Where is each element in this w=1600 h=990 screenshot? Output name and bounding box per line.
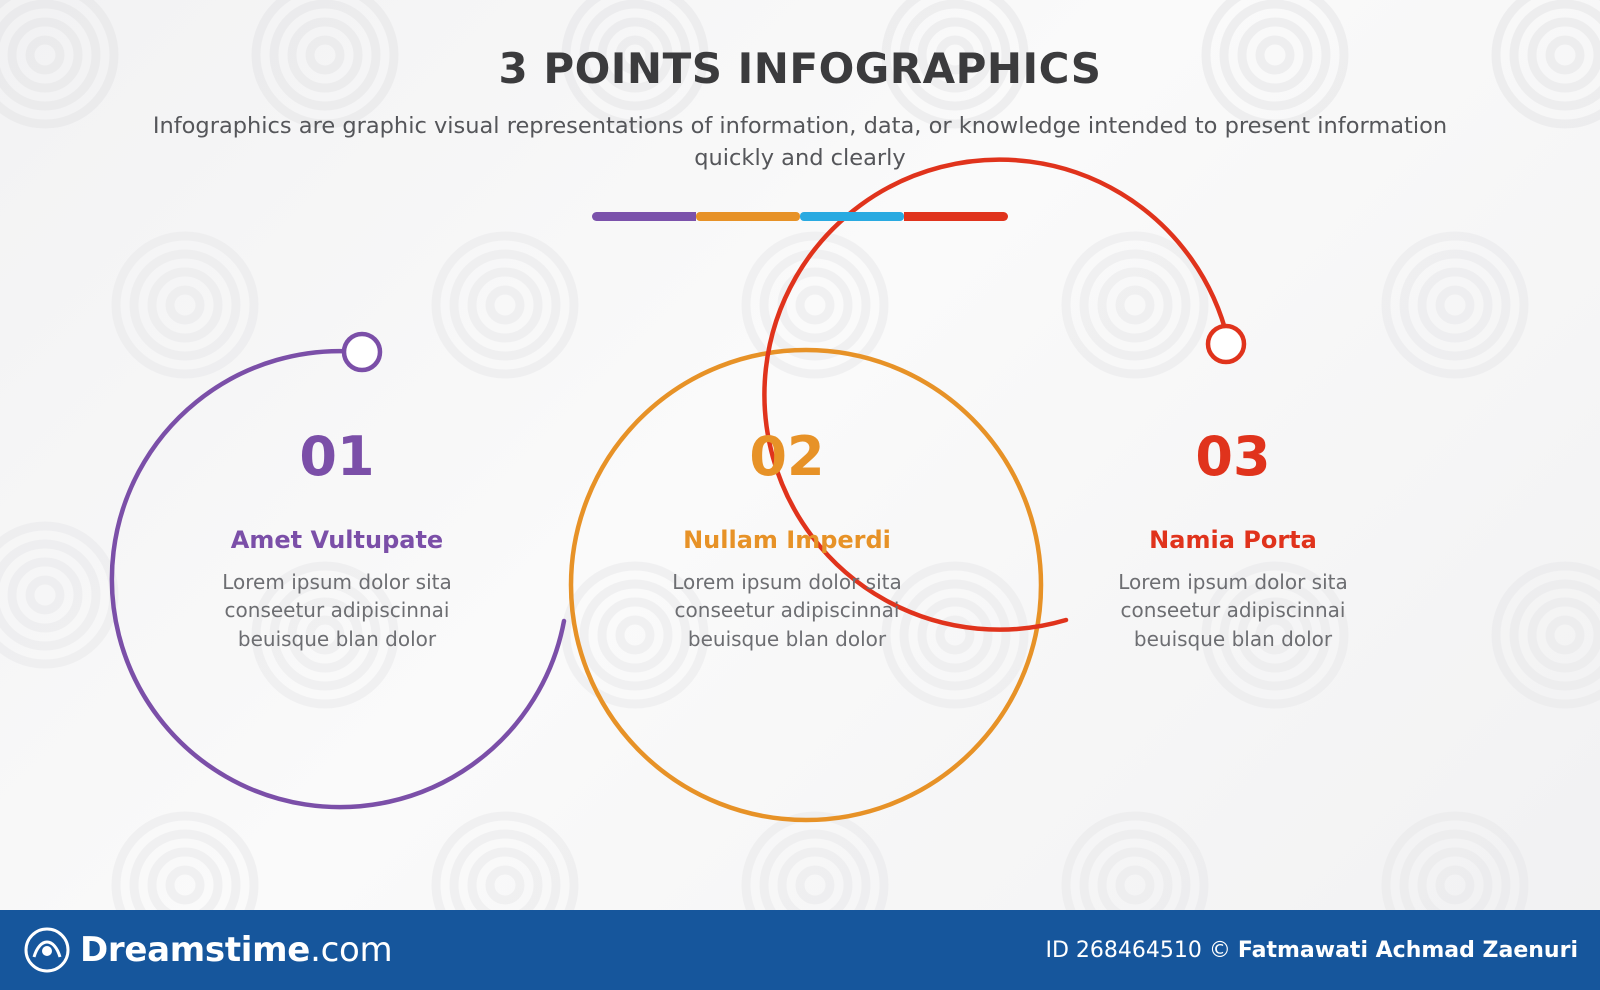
point-block-02: 02 Nullam Imperdi Lorem ipsum dolor sita…: [617, 430, 957, 653]
brand-name-bold: Dreamstime: [80, 930, 310, 970]
point-number-03: 03: [1063, 430, 1403, 484]
footer-bar: Dreamstime.com ID 268464510 © Fatmawati …: [0, 910, 1600, 990]
ring-03-marker: [1208, 326, 1244, 362]
point-description-02: Lorem ipsum dolor sita conseetur adipisc…: [617, 568, 957, 653]
brand-name-light: .com: [310, 930, 392, 970]
watermark-icon: [430, 230, 580, 380]
dreamstime-brand[interactable]: Dreamstime.com: [24, 927, 392, 973]
watermark-icon: [0, 520, 120, 670]
point-number-01: 01: [167, 430, 507, 484]
point-heading-02: Nullam Imperdi: [617, 526, 957, 554]
divider-segment-purple: [592, 212, 696, 221]
header: 3 POINTS INFOGRAPHICS Infographics are g…: [0, 0, 1600, 175]
divider-segment-blue: [800, 212, 904, 221]
page-subtitle: Infographics are graphic visual represen…: [115, 111, 1485, 175]
divider-bar: [592, 212, 1008, 221]
divider-segment-orange: [696, 212, 800, 221]
point-heading-01: Amet Vultupate: [167, 526, 507, 554]
point-block-01: 01 Amet Vultupate Lorem ipsum dolor sita…: [167, 430, 507, 653]
ring-01-marker: [344, 334, 380, 370]
image-credit: ID 268464510 © Fatmawati Achmad Zaenuri: [1046, 938, 1579, 963]
watermark-icon: [1060, 230, 1210, 380]
watermark-icon: [1490, 560, 1600, 710]
point-heading-03: Namia Porta: [1063, 526, 1403, 554]
page-title: 3 POINTS INFOGRAPHICS: [0, 44, 1600, 93]
image-author: Fatmawati Achmad Zaenuri: [1238, 938, 1578, 963]
image-id: ID 268464510 ©: [1046, 938, 1231, 963]
divider-segment-red: [904, 212, 1008, 221]
point-number-02: 02: [617, 430, 957, 484]
dreamstime-wordmark: Dreamstime.com: [80, 930, 392, 970]
point-description-01: Lorem ipsum dolor sita conseetur adipisc…: [167, 568, 507, 653]
watermark-icon: [740, 230, 890, 380]
point-block-03: 03 Namia Porta Lorem ipsum dolor sita co…: [1063, 430, 1403, 653]
watermark-icon: [110, 230, 260, 380]
dreamstime-logo-icon: [24, 927, 70, 973]
infographic-canvas: 3 POINTS INFOGRAPHICS Infographics are g…: [0, 0, 1600, 990]
watermark-icon: [1380, 230, 1530, 380]
point-description-03: Lorem ipsum dolor sita conseetur adipisc…: [1063, 568, 1403, 653]
